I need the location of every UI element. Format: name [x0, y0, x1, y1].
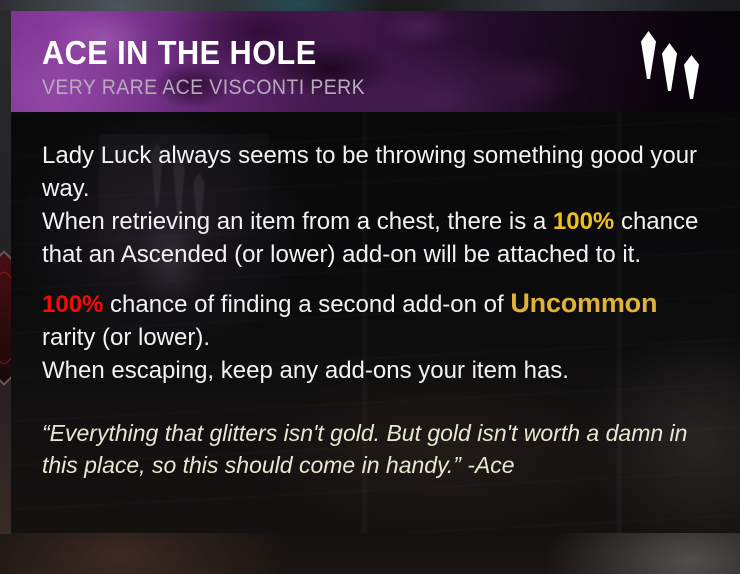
page-title: ACE IN THE HOLE [42, 33, 365, 73]
description-text: rarity (or lower). [42, 324, 210, 351]
description-text: When escaping, keep any add-ons your ite… [42, 357, 569, 384]
description-text: Lady Luck always seems to be throwing so… [42, 142, 697, 202]
perk-card-header: ACE IN THE HOLE VERY RARE ACE VISCONTI P… [11, 11, 740, 112]
spike-shape-1 [641, 31, 656, 79]
perk-description: Lady Luck always seems to be throwing so… [11, 112, 740, 387]
description-text: When retrieving an item from a chest, th… [42, 208, 553, 235]
description-line: When escaping, keep any add-ons your ite… [42, 354, 708, 387]
description-highlight: 100% [553, 208, 614, 235]
description-highlight: Uncommon [510, 288, 657, 318]
three-spikes-icon [640, 29, 714, 99]
perk-subtitle: VERY RARE ACE VISCONTI PERK [42, 75, 365, 101]
page-root: luck ACE IN THE HOLE VERY RARE ACE VISCO… [0, 0, 740, 574]
header-text-block: ACE IN THE HOLE VERY RARE ACE VISCONTI P… [42, 33, 389, 101]
description-text: chance of finding a second add-on of [103, 291, 510, 318]
description-paragraph-gap [42, 271, 708, 287]
spike-shape-3 [684, 55, 699, 99]
perk-card: ACE IN THE HOLE VERY RARE ACE VISCONTI P… [11, 11, 740, 533]
description-line: When retrieving an item from a chest, th… [42, 205, 708, 271]
perk-flavor-text: “Everything that glitters isn't gold. Bu… [11, 417, 740, 481]
spike-shape-2 [662, 43, 677, 91]
description-line: Lady Luck always seems to be throwing so… [42, 139, 708, 205]
perk-card-body: Lady Luck always seems to be throwing so… [11, 112, 740, 533]
description-line: 100% chance of finding a second add-on o… [42, 287, 708, 354]
description-highlight: 100% [42, 291, 103, 318]
